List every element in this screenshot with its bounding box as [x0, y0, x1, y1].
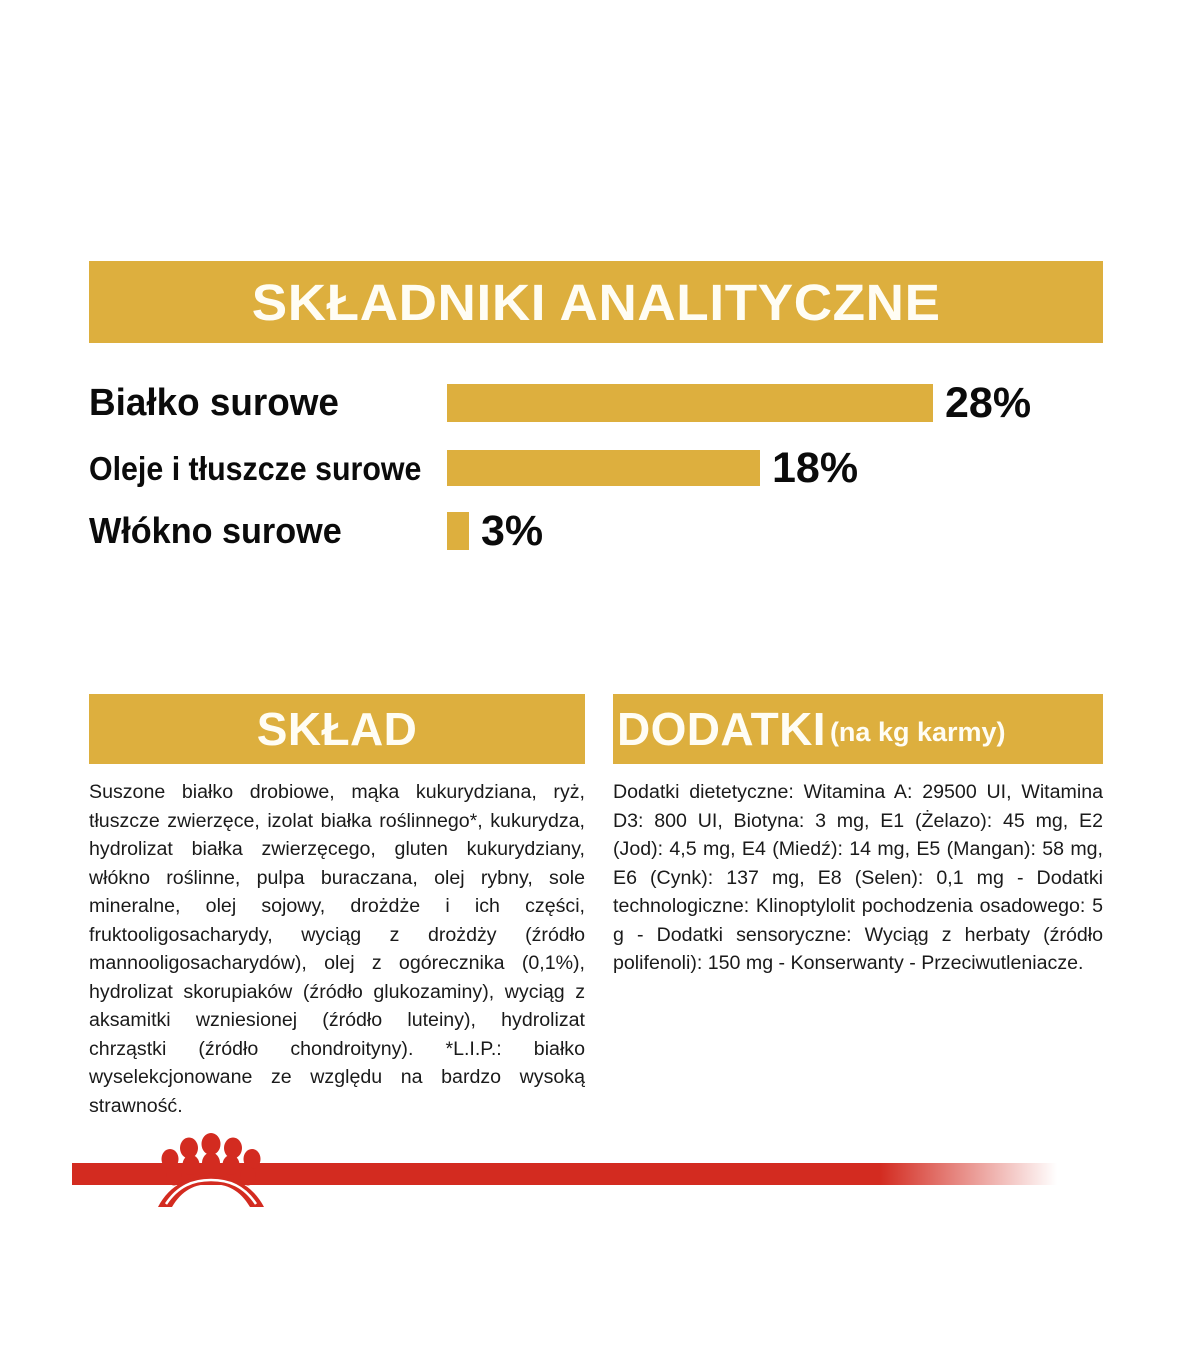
chart-row: Oleje i tłuszcze surowe 18% [89, 437, 1103, 499]
chart-row: Włókno surowe 3% [89, 500, 1103, 562]
composition-panel-header: SKŁAD [89, 694, 585, 764]
royal-canin-crown-logo-icon [148, 1128, 274, 1212]
chart-bar [447, 512, 469, 550]
chart-row: Białko surowe 28% [89, 372, 1103, 434]
product-info-page: SKŁADNIKI ANALITYCZNE Białko surowe 28% … [0, 0, 1200, 1372]
analytical-constituents-header: SKŁADNIKI ANALITYCZNE [89, 261, 1103, 343]
chart-category-label: Włókno surowe [89, 513, 429, 549]
additives-panel-body: Dodatki dietetyczne: Witamina A: 29500 U… [613, 764, 1103, 978]
analytical-constituents-chart: Białko surowe 28% Oleje i tłuszcze surow… [89, 372, 1103, 562]
additives-panel-header: DODATKI (na kg karmy) [613, 694, 1103, 764]
additives-panel-subtitle: (na kg karmy) [830, 717, 1006, 748]
composition-panel-body: Suszone białko drobiowe, mąka kukurydzia… [89, 764, 585, 1120]
chart-bar-track: 28% [447, 372, 1103, 434]
chart-bar-track: 18% [447, 437, 1103, 499]
composition-panel: SKŁAD Suszone białko drobiowe, mąka kuku… [89, 694, 585, 1120]
additives-panel: DODATKI (na kg karmy) Dodatki dietetyczn… [613, 694, 1103, 978]
composition-panel-title: SKŁAD [257, 702, 417, 756]
chart-value-label: 28% [945, 382, 1031, 425]
chart-category-label: Białko surowe [89, 384, 436, 422]
chart-category-label: Oleje i tłuszcze surowe [89, 452, 418, 485]
chart-value-label: 18% [772, 447, 858, 490]
analytical-constituents-title: SKŁADNIKI ANALITYCZNE [252, 273, 941, 332]
chart-bar-track: 3% [447, 500, 1103, 562]
brand-footer-strip [0, 1128, 1200, 1212]
chart-bar [447, 384, 933, 422]
chart-bar [447, 450, 760, 486]
chart-value-label: 3% [481, 510, 543, 553]
additives-panel-title: DODATKI [617, 702, 826, 756]
